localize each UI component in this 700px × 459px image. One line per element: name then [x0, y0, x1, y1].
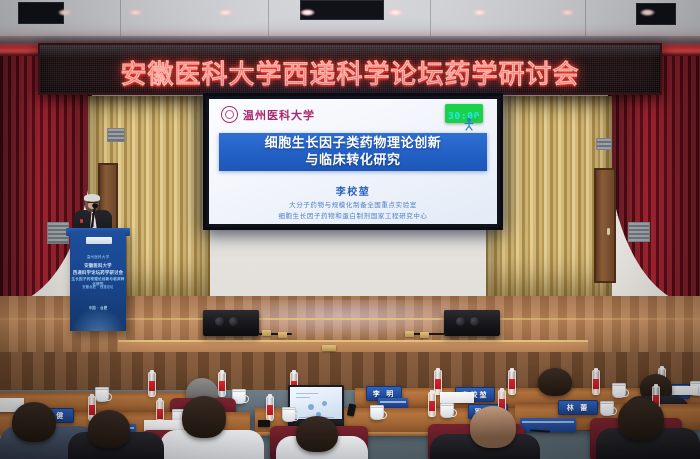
ceiling-spotlight	[640, 9, 655, 16]
ceiling-spotlight	[388, 9, 403, 16]
document-sheet	[672, 386, 698, 395]
nameplate-right-front: 林 蕾	[558, 400, 598, 415]
led-banner: 安徽医科大学西递科学论坛药学研讨会	[38, 43, 662, 95]
podium: 温州医科大学 安徽医科大学 西递科学论坛药学研讨会 生长因子药物理论创新与临床转…	[70, 231, 126, 331]
water-bottle	[428, 392, 436, 417]
audience-head	[470, 406, 516, 448]
podium-nameplate	[86, 237, 112, 244]
water-bottle	[592, 370, 600, 395]
ceiling-spotlight	[218, 9, 233, 16]
stage-floor-box	[262, 330, 271, 336]
podium-line-1: 安徽医科大学	[70, 263, 126, 269]
audience-head	[538, 368, 572, 396]
ceiling-spotlight	[300, 9, 315, 16]
stage-floor-box	[322, 345, 336, 351]
ceiling-spotlight	[58, 9, 73, 16]
audience-head	[618, 398, 664, 440]
wall-vent	[596, 138, 612, 150]
audience-head	[296, 416, 338, 452]
wall-vent	[628, 222, 650, 242]
stage-floor-box	[278, 332, 287, 338]
nameplate-text: 林 蕾	[567, 403, 589, 413]
tea-mug	[282, 408, 296, 422]
tea-mug	[600, 402, 614, 416]
conference-hall-photo: 安徽医科大学西递科学论坛药学研讨会 温州医科大学 30:00 细胞生长因子类药物…	[0, 0, 700, 459]
water-bottle	[508, 370, 516, 395]
stage-door-right[interactable]	[594, 168, 616, 283]
stage-floor-box	[420, 332, 429, 338]
stage-monitor-left	[203, 310, 259, 336]
water-bottle	[148, 372, 156, 397]
wall-vent	[107, 128, 125, 142]
document-sheet	[440, 392, 474, 403]
university-seal-icon	[221, 106, 238, 123]
audience-head	[88, 410, 130, 448]
led-pixel-grid	[40, 45, 660, 93]
smartphone[interactable]	[258, 420, 270, 427]
slide-affiliation-2: 细胞生长因子药物和蛋白制剂国家工程研究中心	[209, 210, 497, 220]
water-bottle	[218, 372, 226, 397]
podium-line-4: 安徽合肥 · 西递论坛	[70, 284, 126, 289]
slide-title-line1: 细胞生长因子类药物理论创新	[265, 135, 442, 152]
presenter-avatar-icon	[459, 116, 481, 132]
ceiling-spotlight	[560, 9, 575, 16]
university-logo: 温州医科大学	[221, 106, 315, 123]
podium-graphic	[70, 307, 126, 331]
ceiling-spotlight	[128, 9, 143, 16]
podium-line-2: 西递科学论坛药学研讨会	[70, 270, 126, 276]
slide-speaker-name: 李校堃	[209, 183, 497, 198]
slide-title-band: 细胞生长因子类药物理论创新 与临床转化研究	[219, 133, 487, 171]
stage-floor-box	[405, 331, 414, 337]
ceiling-spotlight	[472, 9, 487, 16]
audience-head	[182, 396, 226, 438]
podium-brand-text: 温州医科大学	[70, 255, 126, 260]
water-bottle	[266, 396, 274, 421]
tea-mug	[370, 406, 384, 420]
presentation-slide: 温州医科大学 30:00 细胞生长因子类药物理论创新 与临床转化研究 李校堃 大…	[209, 99, 497, 224]
slide-title-line2: 与临床转化研究	[305, 152, 400, 169]
tea-mug	[95, 388, 109, 402]
nameplate-text: 李 明	[373, 389, 395, 399]
stage-monitor-right	[444, 310, 500, 336]
projection-screen: 温州医科大学 30:00 细胞生长因子类药物理论创新 与临床转化研究 李校堃 大…	[203, 93, 503, 230]
slide-affiliation-1: 大分子药物与规模化制备全国重点实验室	[209, 199, 497, 209]
speaker-hair	[84, 194, 100, 201]
tea-mug	[612, 384, 626, 398]
audience-head	[12, 402, 56, 442]
tea-mug	[440, 404, 454, 418]
university-logo-text: 温州医科大学	[243, 107, 315, 123]
speaker-lapel-pin	[80, 219, 83, 223]
